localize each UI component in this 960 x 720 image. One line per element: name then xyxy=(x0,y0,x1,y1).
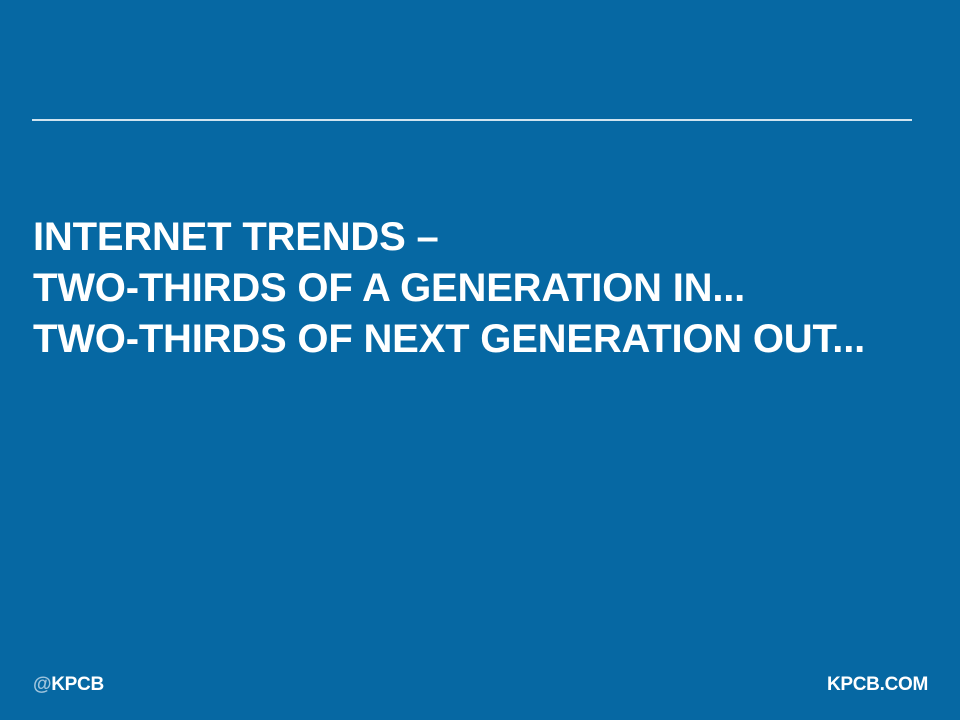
presentation-slide: INTERNET TRENDS – TWO-THIRDS OF A GENERA… xyxy=(0,0,960,720)
title-line-2: TWO-THIRDS OF A GENERATION IN... xyxy=(33,263,953,314)
slide-title: INTERNET TRENDS – TWO-THIRDS OF A GENERA… xyxy=(33,212,953,365)
title-line-3: TWO-THIRDS OF NEXT GENERATION OUT... xyxy=(33,314,953,365)
footer-social-handle: @KPCB xyxy=(33,675,104,695)
footer-handle-name: KPCB xyxy=(51,674,104,695)
footer-website: KPCB.COM xyxy=(827,675,928,695)
title-divider-rule xyxy=(32,119,912,121)
at-sign-icon: @ xyxy=(33,674,51,695)
title-line-1: INTERNET TRENDS – xyxy=(33,212,953,263)
